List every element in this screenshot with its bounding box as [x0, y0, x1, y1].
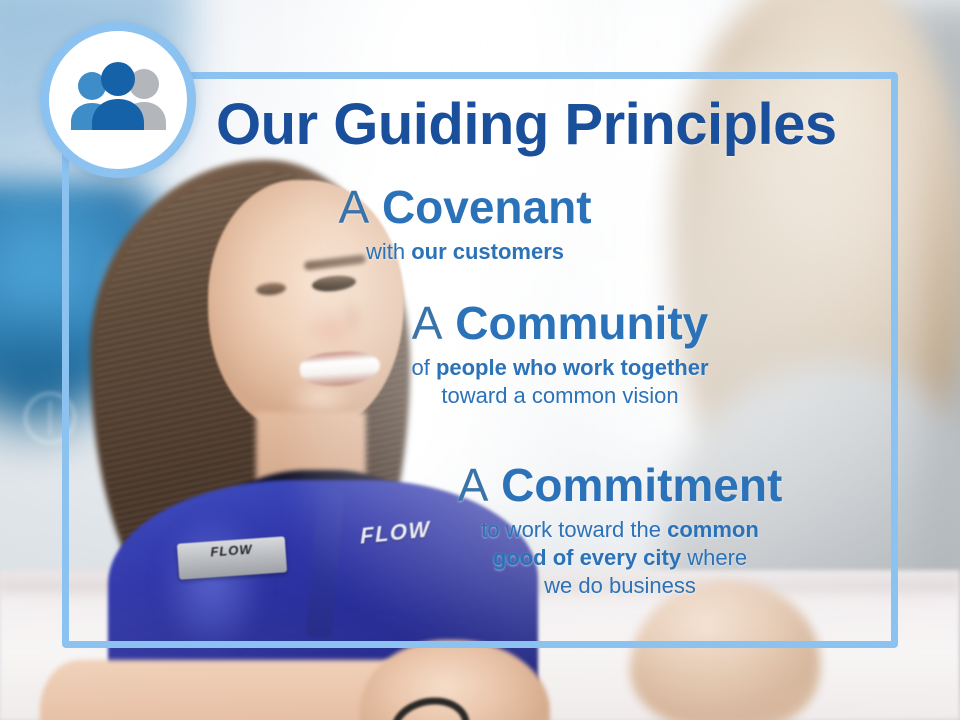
principle-commitment-article: A	[458, 459, 489, 511]
people-group-badge	[40, 22, 196, 178]
principle-covenant-sub: with our customers	[250, 238, 680, 266]
principle-commitment-sub-bold2: good of every city	[493, 545, 681, 570]
principle-commitment-sub-bold1: common	[667, 517, 759, 542]
principle-community-sub: of people who work together toward a com…	[300, 354, 820, 410]
principle-community-word: Community	[455, 297, 708, 349]
principle-commitment-sub-line3: we do business	[544, 573, 696, 598]
principle-community-sub-line2: toward a common vision	[441, 383, 678, 408]
principle-covenant-heading: A Covenant	[250, 184, 680, 232]
principle-commitment-sub-lead: to work toward the	[481, 517, 667, 542]
principle-community-heading: A Community	[300, 300, 820, 348]
principle-covenant-sub-lead: with	[366, 239, 411, 264]
principle-covenant-sub-bold: our customers	[411, 239, 564, 264]
principle-community-sub-lead: of	[411, 355, 435, 380]
principle-commitment: A Commitment to work toward the common g…	[360, 462, 880, 600]
guiding-principles-graphic: FLOW FLOW Our Guiding Principles	[0, 0, 960, 720]
page-title: Our Guiding Principles	[216, 96, 866, 154]
principle-covenant-article: A	[338, 181, 369, 233]
principle-commitment-word: Commitment	[501, 459, 782, 511]
principle-commitment-sub: to work toward the common good of every …	[360, 516, 880, 600]
principle-commitment-heading: A Commitment	[360, 462, 880, 510]
principle-community-article: A	[412, 297, 443, 349]
principle-covenant-word: Covenant	[382, 181, 592, 233]
principle-commitment-sub-trail: where	[681, 545, 747, 570]
people-group-icon	[64, 62, 172, 138]
principle-community-sub-bold: people who work together	[436, 355, 709, 380]
principle-community: A Community of people who work together …	[300, 300, 820, 410]
principle-covenant: A Covenant with our customers	[250, 184, 680, 266]
